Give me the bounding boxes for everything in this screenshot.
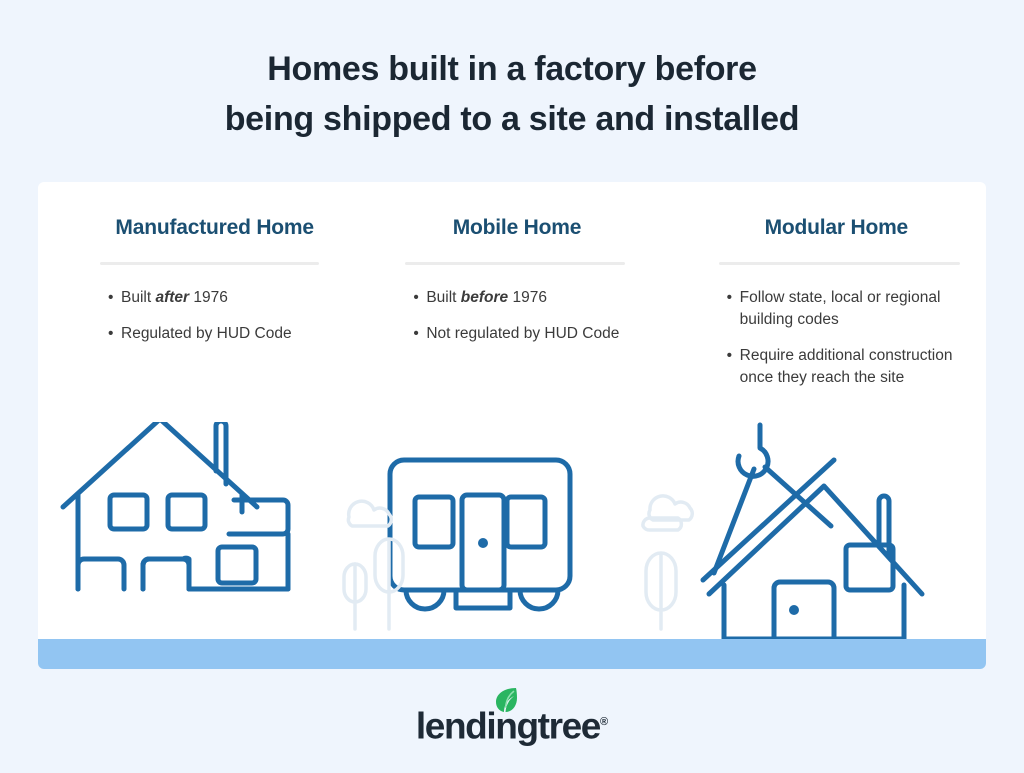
list-item: Not regulated by HUD Code: [413, 323, 638, 345]
bullet-text-before: Not regulated by HUD Code: [426, 325, 619, 342]
logo-wordmark: lendingtree®: [416, 700, 608, 748]
column-bullet-list: Built after 1976 Regulated by HUD Code: [108, 287, 333, 345]
bullet-text-before: Require additional construction once the…: [740, 347, 953, 386]
bullet-text-emphasis: after: [155, 289, 189, 306]
bullet-text-before: Follow state, local or regional building…: [740, 289, 941, 328]
column-divider: [100, 262, 319, 265]
comparison-columns: Manufactured Home Built after 1976 Regul…: [38, 182, 986, 422]
illustration-row: [38, 422, 986, 669]
column-heading: Manufactured Home: [96, 216, 333, 240]
bullet-text-emphasis: before: [461, 289, 508, 306]
page-title: Homes built in a factory before being sh…: [0, 44, 1024, 144]
brand-logo: lendingtree®: [0, 700, 1024, 748]
list-item: Require additional construction once the…: [727, 345, 968, 389]
list-item: Built before 1976: [413, 287, 638, 309]
comparison-card: Manufactured Home Built after 1976 Regul…: [38, 182, 986, 669]
leaf-icon: [494, 687, 518, 713]
modular-home-crane-icon: [703, 425, 922, 639]
column-mobile-home: Mobile Home Built before 1976 Not regula…: [357, 182, 676, 422]
registered-trademark-symbol: ®: [600, 716, 608, 728]
mobile-home-icon: [390, 460, 570, 609]
column-bullet-list: Built before 1976 Not regulated by HUD C…: [413, 287, 638, 345]
decorative-scenery: [344, 496, 692, 629]
bullet-text-before: Built: [426, 289, 460, 306]
list-item: Follow state, local or regional building…: [727, 287, 968, 331]
column-divider: [405, 262, 624, 265]
column-heading: Modular Home: [705, 216, 968, 240]
column-divider: [719, 262, 960, 265]
list-item: Built after 1976: [108, 287, 333, 309]
bullet-text-after: 1976: [189, 289, 228, 306]
bullet-text-before: Built: [121, 289, 155, 306]
manufactured-home-icon: [63, 422, 288, 589]
list-item: Regulated by HUD Code: [108, 323, 333, 345]
column-manufactured-home: Manufactured Home Built after 1976 Regul…: [38, 182, 357, 422]
bullet-text-before: Regulated by HUD Code: [121, 325, 292, 342]
ground-strip: [38, 639, 986, 669]
column-modular-home: Modular Home Follow state, local or regi…: [677, 182, 986, 422]
column-heading: Mobile Home: [385, 216, 648, 240]
bullet-text-after: 1976: [508, 289, 547, 306]
page-title-line-2: being shipped to a site and installed: [0, 94, 1024, 144]
column-bullet-list: Follow state, local or regional building…: [727, 287, 968, 389]
page-title-line-1: Homes built in a factory before: [0, 44, 1024, 94]
